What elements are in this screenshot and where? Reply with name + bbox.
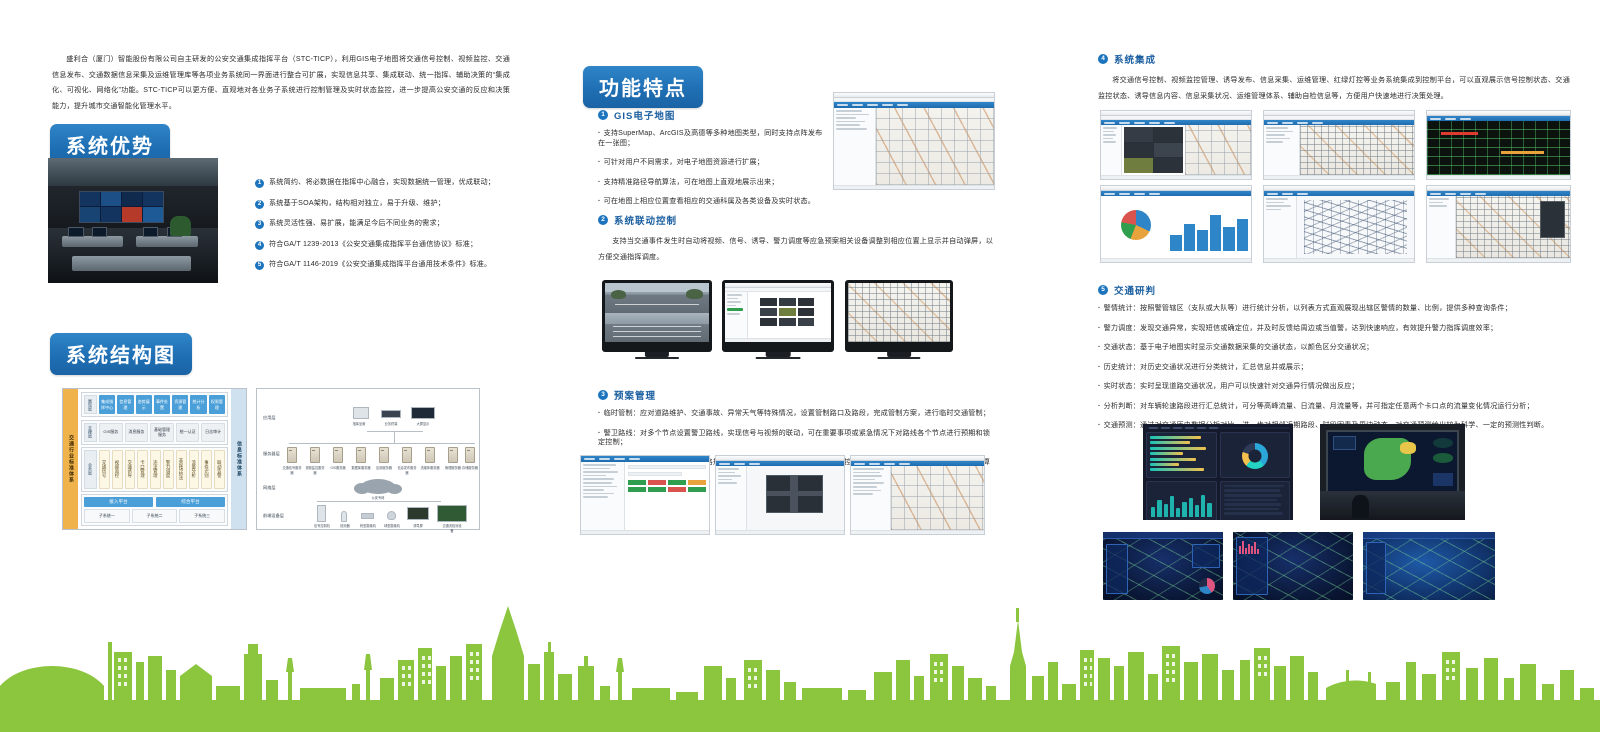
app-canvas[interactable]: [747, 466, 844, 530]
command-ui: [1363, 532, 1495, 600]
section-analysis-head: 5 交通研判: [1098, 283, 1572, 297]
app-body: [1427, 121, 1570, 175]
app-window: [1101, 111, 1251, 179]
arch-cell: 交通诱导: [125, 450, 136, 489]
arch-cell: 日志审计: [201, 423, 225, 442]
advantage-text-5: 符合GA/T 1146-2019《公安交通集成指挥平台通用技术条件》标准。: [269, 260, 491, 270]
dark-map-canvas[interactable]: [1427, 121, 1570, 175]
map-tiles: [876, 108, 994, 185]
intro-paragraph: 盛利合（厦门）智能股份有限公司自主研发的公安交通集成指挥平台（STC-TICP）…: [52, 52, 510, 114]
server-caption: GIS服务器: [328, 465, 348, 470]
app-sidebar[interactable]: [834, 108, 876, 185]
app-sidebar[interactable]: [1264, 196, 1297, 258]
arch-cell: GIS服务: [99, 423, 123, 442]
bigscreen-panel-left: [1333, 436, 1356, 449]
advantage-item-2: 2 系统基于SOA架构，结构相对独立，易于升级、维护；: [255, 199, 517, 209]
server-icon: [448, 447, 458, 463]
app-window: [1427, 186, 1570, 262]
advantage-text-4: 符合GA/T 1239-2013《公安交通集成指挥平台通信协议》标准；: [269, 240, 477, 250]
app-sidebar[interactable]: [1427, 196, 1456, 258]
map-tiles: [891, 466, 984, 530]
status-chip-grid: [628, 480, 706, 492]
architecture-row-presentation: 展现层 集成指挥中心 信息管理 态势展示 事件处置 资源管理 统计分析 权限管理: [81, 392, 228, 417]
app-sidebar[interactable]: [725, 292, 748, 338]
server-caption: 存储服务器: [460, 465, 480, 470]
dashboard-card-vbar: [1146, 481, 1217, 520]
dark-dashboard: [1143, 424, 1293, 520]
advantage-badge-4: 4: [255, 241, 264, 250]
arch-cell: 资源管理: [172, 395, 188, 414]
donut-chart: [1199, 578, 1215, 594]
arch-cell: 联动告警: [214, 450, 225, 489]
device-app-window: [851, 456, 984, 534]
server-icon: [402, 447, 412, 463]
arch-cell: 信息管理: [117, 395, 133, 414]
gis-bullet-4: 可在地图上相应位置查看相应的交通科属及各类设备及实时状态。: [598, 197, 823, 207]
app-body: [1264, 125, 1414, 175]
architecture-row-label-3: 业务层: [84, 450, 97, 489]
command-dashboard-3: [1363, 532, 1495, 600]
app-statusbar: [851, 530, 984, 534]
arch-cell: 交通信号: [99, 450, 110, 489]
app-statusbar: [1264, 258, 1414, 262]
device-caption: 球型摄像机: [382, 523, 402, 528]
app-map-canvas[interactable]: [1300, 125, 1414, 175]
section-title-1: GIS电子地图: [614, 108, 675, 122]
tree-icon: [686, 289, 703, 298]
monitor-screen-2: [725, 283, 831, 342]
integration-shot-3: [1426, 110, 1571, 180]
phase-grid[interactable]: [1124, 127, 1183, 173]
system-structure-header: 系统结构图: [50, 333, 192, 375]
photo-video-wall: [79, 191, 164, 224]
gis-bullet-1: 支持SuperMap、ArcGIS及高德等多种地图类型，同时支持点阵发布在一张图…: [598, 129, 823, 148]
arch-cell: 统计分析: [190, 395, 206, 414]
intro-paragraph-block: 盛利合（厦门）智能股份有限公司自主研发的公安交通集成指挥平台（STC-TICP）…: [52, 52, 510, 114]
form-field[interactable]: [628, 465, 706, 469]
function-features-header: 功能特点: [583, 66, 703, 108]
server-caption: 应用服务器: [374, 465, 394, 470]
integration-shot-6: [1426, 185, 1571, 263]
advantages-list: 1 系统简约、将必数据在指挥中心融合，实现数据统一管理，优成联动； 2 系统基于…: [255, 178, 517, 281]
arch-cell: 权限管理: [209, 395, 225, 414]
server-icon: [356, 447, 366, 463]
app-statusbar: [725, 338, 831, 342]
intersection-diagram: [766, 475, 822, 513]
advantage-text-3: 系统灵活性强、易扩展，能满足今后不同业务的需求；: [269, 219, 444, 229]
command-topbar[interactable]: [1363, 532, 1495, 539]
arch-cell: 非现场执法: [176, 450, 187, 489]
guidance-screen-icon: [407, 507, 429, 520]
topology-layer-label-3: 网络层: [263, 485, 276, 491]
monitor-signal-control: [722, 280, 834, 352]
app-statusbar: [716, 530, 844, 534]
advantage-item-4: 4 符合GA/T 1239-2013《公安交通集成指挥平台通信协议》标准；: [255, 240, 517, 250]
congestion-marker: [1501, 151, 1544, 154]
app-window: [1264, 186, 1414, 262]
command-left-panel[interactable]: [1366, 542, 1386, 594]
command-ui: [1103, 532, 1223, 600]
app-intersection-canvas[interactable]: [748, 292, 831, 338]
gis-map-screenshot: [833, 92, 995, 190]
control-room-photo: [48, 158, 218, 283]
layout-app-window: [716, 456, 844, 534]
integration-shot-1: [1100, 110, 1252, 180]
topology-bus-devices: [317, 501, 441, 502]
arch-cell: 视频监控: [112, 450, 123, 489]
section-plan-head: 3 预案管理: [598, 388, 993, 402]
app-tree-panel[interactable]: [581, 462, 625, 530]
app-body: [851, 466, 984, 530]
section-traffic-analysis: 5 交通研判 警情统计：按照警管辖区（支队或大队等）进行统计分析，以列表方式直观…: [1098, 283, 1572, 441]
app-body: [716, 466, 844, 530]
lane-marking: [613, 336, 700, 337]
analysis-bullet-6: 分析判断：对车辆轮速路段进行汇总统计，可分等高峰流量、日流量、月流量等，并可指定…: [1098, 402, 1572, 412]
bar-chart: [1151, 493, 1212, 517]
command-dashboard-1: [1103, 532, 1223, 600]
topology-terminal-caption-2: 业务终端: [381, 421, 401, 426]
app-statusbar: [1101, 175, 1251, 179]
integration-shot-4: [1100, 185, 1252, 263]
app-body: [1101, 196, 1251, 258]
arch-pill: 接入平台: [84, 497, 153, 507]
section-badge-2: 2: [598, 215, 608, 225]
topology-layer-label-4: 前端设备层: [263, 513, 284, 519]
topology-connector-a: [367, 431, 423, 432]
app-body: [1101, 125, 1251, 175]
linkage-paragraph: 支持当交通事件发生时自动将视频、信号、诱导、警力调度等应急预案相关设备调整到相应…: [598, 234, 993, 265]
advantage-item-1: 1 系统简约、将必数据在指挥中心融合，实现数据统一管理，优成联动；: [255, 178, 517, 188]
arch-subsystem: 子系统一: [84, 509, 130, 523]
dashboard-row-bottom: [1146, 481, 1290, 520]
architecture-pill-row: 接入平台 综合平台: [84, 497, 225, 507]
app-statusbar: [1101, 258, 1251, 262]
topology-layer-label-1: 应用层: [263, 415, 276, 421]
signal-app-window: [725, 283, 831, 342]
section-linkage-control: 2 系统联动控制 支持当交通事件发生时自动将视频、信号、诱导、警力调度等应急预案…: [598, 213, 993, 265]
arch-cell: 事件识别: [201, 450, 212, 489]
photo-monitor-2: [92, 227, 107, 237]
app-statusbar: [1264, 175, 1414, 179]
photo-ceiling: [48, 158, 218, 186]
advantage-badge-3: 3: [255, 220, 264, 229]
lane-marking: [613, 331, 700, 332]
terminal-workstation-icon: [353, 407, 369, 419]
app-list-panel[interactable]: [851, 466, 891, 530]
arch-cell: 消息服务: [125, 423, 149, 442]
app-window: [1264, 111, 1414, 179]
photo-monitor-3: [143, 227, 158, 237]
monitor-base: [877, 357, 920, 359]
dashboard-row-top: [1146, 432, 1290, 478]
person-silhouette: [1352, 495, 1369, 518]
dashboard-card-table: [1220, 481, 1291, 520]
section-badge-5: 5: [1098, 285, 1108, 295]
advantage-item-5: 5 符合GA/T 1146-2019《公安交通集成指挥平台通用技术条件》标准。: [255, 260, 517, 270]
lane-marking: [613, 326, 700, 327]
command-ui: [1233, 532, 1353, 600]
app-map-canvas[interactable]: [876, 108, 994, 185]
form-field[interactable]: [628, 472, 683, 476]
map-panel[interactable]: [1185, 125, 1251, 175]
section-title-2: 系统联动控制: [614, 213, 677, 227]
server-icon: [333, 447, 343, 463]
server-icon: [425, 447, 435, 463]
audience-area: [1320, 491, 1465, 520]
architecture-cells-2: GIS服务 消息服务 基础管理服务 统一认证 日志审计: [99, 423, 225, 442]
dome-camera-icon: [387, 511, 396, 520]
analysis-dashboard-screenshot: [1143, 424, 1293, 520]
topology-connector-b: [394, 431, 395, 443]
app-statusbar: [1427, 175, 1570, 179]
arch-pill: 综合平台: [156, 497, 225, 507]
arch-cell: 统一认证: [176, 423, 200, 442]
street-scene-top: [605, 283, 709, 313]
section-title-3: 预案管理: [614, 388, 656, 402]
tree-icon: [611, 290, 626, 299]
server-caption: 数据库服务器: [351, 465, 371, 470]
server-icon: [379, 447, 389, 463]
terminal-videowall-icon: [411, 407, 435, 419]
arch-cell: 卡口管理: [137, 450, 148, 489]
app-body: [725, 292, 831, 338]
monitor-base: [635, 357, 679, 359]
command-chart-panel[interactable]: [1192, 544, 1220, 568]
architecture-left-label: 交通行业标准体系: [63, 389, 78, 529]
app-window: [1101, 186, 1251, 262]
command-left-panel[interactable]: [1106, 544, 1128, 594]
app-network-canvas[interactable]: [1297, 196, 1414, 258]
dashboard-toolbar[interactable]: [1146, 427, 1290, 429]
app-tree-panel[interactable]: [1264, 125, 1300, 175]
street-scene-bottom: [605, 313, 709, 343]
bigscreen-bars: [1433, 473, 1454, 486]
lane-marking: [615, 304, 698, 305]
app-body: [1427, 196, 1570, 258]
map-tiles: [1185, 125, 1251, 175]
bigscreen-gauge: [1433, 438, 1454, 449]
detector-icon: [341, 511, 347, 522]
command-topbar[interactable]: [1103, 532, 1223, 539]
map-region-highlight: [1400, 442, 1416, 454]
section-badge-3: 3: [598, 390, 608, 400]
app-statusbar: [1427, 258, 1570, 262]
bigscreen-display: [1326, 430, 1459, 493]
screenshot-plan-list: [580, 455, 710, 535]
monitor-base: [756, 357, 801, 359]
advantage-item-3: 3 系统灵活性强、易扩展，能满足今后不同业务的需求；: [255, 219, 517, 229]
photo-monitor-1: [68, 227, 83, 237]
advantage-text-2: 系统基于SOA架构，结构相对独立，易于升级、维护；: [269, 199, 445, 209]
advantage-badge-2: 2: [255, 200, 264, 209]
pie-chart: [1121, 210, 1151, 240]
network-cloud-icon: [361, 479, 395, 494]
command-dashboard-2: [1233, 532, 1353, 600]
arch-cell: 态势展示: [136, 395, 152, 414]
architecture-row-business: 业务层 交通信号 视频监控 交通诱导 卡口管理 违法管理 警力调度 非现场执法 …: [81, 447, 228, 492]
analysis-bullet-1: 警情统计：按照警管辖区（支队或大队等）进行统计分析，以列表方式直观展现出辖区警情…: [1098, 304, 1572, 314]
arch-cell: 流量分析: [189, 450, 200, 489]
arch-cell: 集成指挥中心: [99, 395, 115, 414]
topology-terminal-caption-1: 指挥坐席: [349, 421, 369, 426]
mini-bar-chart: [1239, 540, 1259, 554]
arch-cell: 基础管理服务: [150, 423, 174, 442]
section-title-5: 交通研判: [1114, 283, 1156, 297]
photo-plant: [170, 216, 190, 236]
intersection-phase-grid: [760, 298, 815, 327]
architecture-cells-3: 交通信号 视频监控 交通诱导 卡口管理 违法管理 警力调度 非现场执法 流量分析…: [99, 450, 225, 489]
analysis-bullet-3: 交通状态：基于电子地图实时显示交通数据采集的交通状态，以颜色区分交通状况；: [1098, 343, 1572, 353]
monitor-screen-1: [605, 283, 709, 342]
integration-paragraph: 将交通信号控制、视频监控管理、诱导发布、信息采集、运维管理、红绿灯控等业务系统集…: [1098, 73, 1570, 104]
traffic-flow-detector-icon: [437, 505, 467, 522]
gis-bullet-3: 支持精准路径导航算法，可在地图上直观地展示出来；: [598, 178, 823, 188]
architecture-row-label-1: 展现层: [84, 395, 97, 414]
function-features-title: 功能特点: [583, 66, 703, 108]
architecture-diagram: 交通行业标准体系 展现层 集成指挥中心 信息管理 态势展示 事件处置 资源管理 …: [62, 388, 247, 530]
app-body: [834, 108, 994, 185]
app-statusbar: [834, 185, 994, 189]
topology-bus-servers: [289, 443, 475, 444]
analysis-bullet-5: 实时状态：实时呈现道路交通状况，用户可以快速针对交通异行情况做出反应；: [1098, 382, 1572, 392]
plan-bullet-2: 警卫路线：对多个节点设置警卫路线，实现信号与视频的联动，可在重要事项或紧急情况下…: [598, 429, 993, 448]
analysis-bullet-4: 历史统计：对历史交通状况进行分类统计，汇总信息并或展示；: [1098, 363, 1572, 373]
device-caption: 检测器: [335, 523, 355, 528]
map-tiles: [1300, 125, 1414, 175]
arch-cell: 违法管理: [150, 450, 161, 489]
section-badge-1: 1: [598, 110, 608, 120]
app-sidebar[interactable]: [1101, 125, 1122, 175]
bullet-camera-icon: [361, 513, 374, 519]
architecture-cells-1: 集成指挥中心 信息管理 态势展示 事件处置 资源管理 统计分析 权限管理: [99, 395, 225, 414]
topology-diagram: 应用层 服务器层 网络层 前端设备层 指挥坐席 业务终端 大屏显示 交通信号服务…: [256, 388, 480, 530]
architecture-row-label-2: 支撑层: [84, 423, 97, 442]
integration-shot-5: [1263, 185, 1415, 263]
signal-controller-icon: [317, 505, 326, 522]
section-integration-head: 4 系统集成: [1098, 52, 1570, 66]
server-caption: 视频监控服务器: [305, 465, 325, 475]
app-main-area: [1122, 125, 1251, 175]
arch-subsystem: 子系统二: [132, 509, 178, 523]
city-skyline-graphic: [0, 600, 1600, 732]
photo-desk-left: [62, 236, 123, 247]
architecture-row-platform: 接入平台 综合平台 子系统一 子系统二 子系统三: [81, 494, 228, 526]
app-form-panel[interactable]: [625, 462, 709, 530]
section-gis-head: 1 GIS电子地图: [598, 108, 823, 122]
dark-map-grid: [1427, 121, 1570, 175]
app-window: [1427, 111, 1570, 179]
topology-terminal-caption-3: 大屏显示: [413, 421, 433, 426]
network-graph: [1304, 200, 1407, 255]
arch-subsystem: 子系统三: [179, 509, 225, 523]
integration-shot-2: [1263, 110, 1415, 180]
advantage-badge-5: 5: [255, 261, 264, 270]
app-statusbar: [581, 530, 709, 534]
advantage-badge-1: 1: [255, 179, 264, 188]
arch-cell: 警力调度: [163, 450, 174, 489]
app-map-canvas[interactable]: [891, 466, 984, 530]
server-icon: [287, 447, 297, 463]
advantage-text-1: 系统简约、将必数据在指挥中心融合，实现数据统一管理，优成联动；: [269, 178, 495, 188]
device-caption: 枪型摄像机: [358, 523, 378, 528]
section-gis-map: 1 GIS电子地图 支持SuperMap、ArcGIS及高德等多种地图类型，同时…: [598, 108, 823, 217]
photo-desk-right: [136, 236, 197, 247]
topology-cloud-caption: 公安专网: [368, 495, 388, 500]
topology-layer-label-2: 服务器层: [263, 451, 280, 457]
terminal-console-icon: [381, 410, 401, 418]
monitor-gis-map: [845, 280, 953, 352]
app-body: [581, 462, 709, 530]
monitor-screen-3: [848, 283, 950, 342]
screenshot-intersection-layout: [715, 455, 845, 535]
plan-bullet-1: 临时管制：应对道路维护、交通事故、异常天气等特殊情况，设置管制路口及路段，完成管…: [598, 409, 993, 419]
server-caption: 交通信号服务器: [282, 465, 302, 475]
map-tiles: [848, 283, 950, 342]
plan-app-window: [581, 456, 709, 534]
video-preview-panel[interactable]: [1540, 201, 1565, 238]
section-system-integration: 4 系统集成 将交通信号控制、视频监控管理、诱导发布、信息采集、运维管理、红绿灯…: [1098, 52, 1570, 104]
bigscreen-gauge: [1433, 453, 1454, 462]
architecture-row-support: 支撑层 GIS服务 消息服务 基础管理服务 统一认证 日志审计: [81, 420, 228, 445]
architecture-right-label: 信息标准体系: [231, 389, 246, 529]
section-badge-4: 4: [1098, 54, 1108, 64]
screenshot-device-status: [850, 455, 985, 535]
server-icon: [310, 447, 320, 463]
architecture-bottom-row: 子系统一 子系统二 子系统三: [84, 509, 225, 523]
command-center-photo: [1320, 424, 1465, 520]
congestion-marker: [1441, 132, 1478, 135]
server-caption: 流媒体服务器: [420, 465, 440, 470]
device-caption: 交通流检测设备: [442, 523, 462, 533]
monitor-video-surveillance: [602, 280, 712, 352]
dashboard-card-hbar: [1146, 432, 1217, 478]
server-icon: [465, 447, 475, 463]
bar-chart-panel: [1170, 199, 1248, 255]
server-caption: 信息发布服务器: [397, 465, 417, 475]
app-map-canvas[interactable]: [1456, 196, 1570, 258]
brochure-page: 盛利合（厦门）智能股份有限公司自主研发的公安交通集成指挥平台（STC-TICP）…: [0, 0, 1600, 732]
photo-desk-front: [72, 256, 191, 271]
app-sidebar[interactable]: [716, 466, 747, 530]
app-body: [1264, 196, 1414, 258]
analysis-bullet-2: 警力调度：发现交通异常，实现短信或确定位，并及时反馈给周边或当值警，达到快速响应…: [1098, 324, 1572, 334]
section-linkage-head: 2 系统联动控制: [598, 213, 993, 227]
donut-chart: [1242, 443, 1268, 469]
section-title-4: 系统集成: [1114, 52, 1156, 66]
arch-cell: 事件处置: [154, 395, 170, 414]
dashboard-card-donut: [1220, 432, 1291, 478]
gis-app-window: [834, 93, 994, 189]
device-caption: 诱导屏: [408, 523, 428, 528]
device-caption: 信号控制机: [312, 523, 332, 528]
pie-chart-panel: [1104, 199, 1167, 255]
gis-bullet-2: 可针对用户不同需求，对电子地图资源进行扩展；: [598, 158, 823, 168]
architecture-body: 展现层 集成指挥中心 信息管理 态势展示 事件处置 资源管理 统计分析 权限管理…: [78, 389, 231, 529]
system-structure-title: 系统结构图: [50, 333, 192, 375]
